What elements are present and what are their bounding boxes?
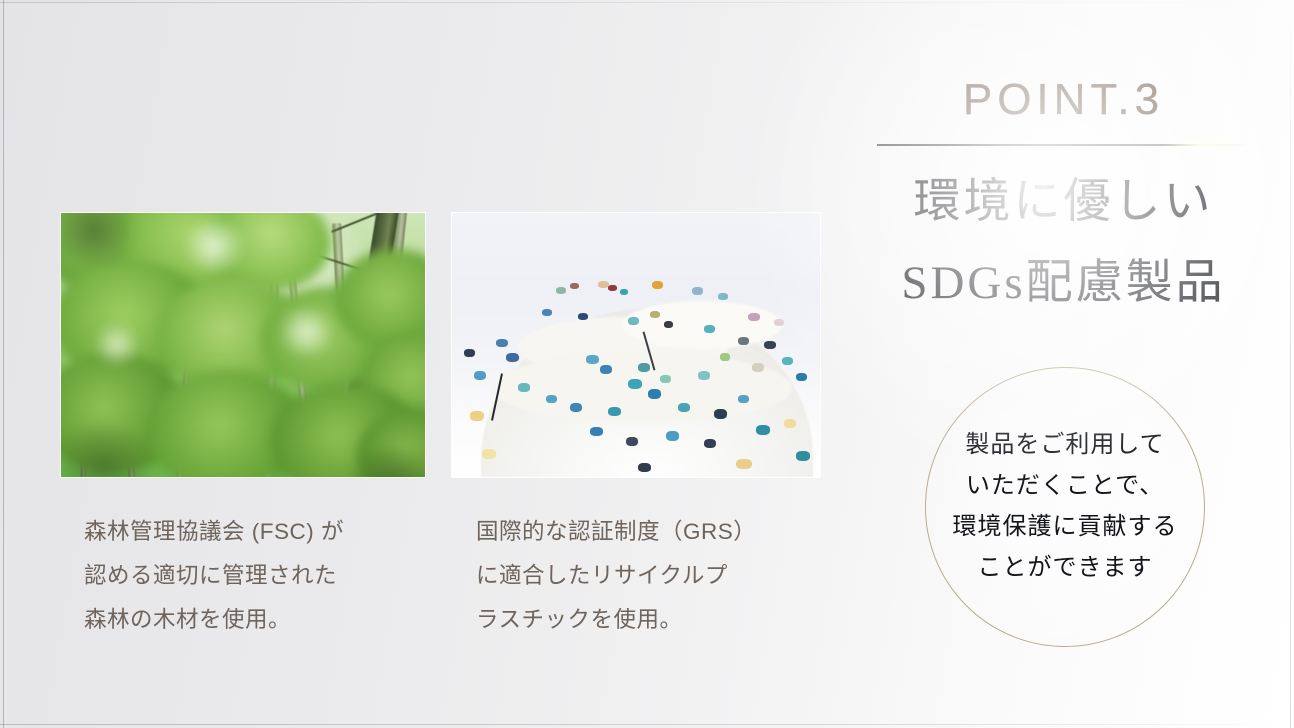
slide-canvas: 森林管理協議会 (FSC) が 認める適切に管理された 森林の木材を使用。 国際… <box>0 0 1294 728</box>
plastic-chip <box>464 349 475 357</box>
point-divider <box>877 144 1250 146</box>
plastic-chip <box>628 379 642 389</box>
plastic-chip <box>556 287 566 294</box>
plastic-chip <box>482 449 496 459</box>
plastic-chip <box>542 309 552 316</box>
plastic-chip <box>570 403 582 412</box>
plastic-chip <box>666 431 679 441</box>
forest-canopy-photo <box>61 213 425 477</box>
plastic-chip <box>796 373 807 381</box>
plastic-chip <box>774 319 784 326</box>
plastic-chip <box>748 313 760 321</box>
plastic-chip <box>518 383 530 392</box>
foliage-highlight <box>91 325 143 365</box>
plastic-chip <box>626 437 638 446</box>
plastic-chip <box>608 285 617 291</box>
caption-plastic: 国際的な認証制度（GRS） に適合したリサイクルプ ラスチックを使用。 <box>476 510 816 642</box>
plastic-chip <box>720 353 730 361</box>
plastic-chip <box>782 357 793 365</box>
plastic-chip <box>578 313 588 320</box>
plastic-chip <box>756 425 770 435</box>
plastic-chip <box>496 339 508 347</box>
plastic-chip <box>648 389 661 399</box>
plastic-chip <box>638 463 651 472</box>
plastic-chip <box>652 281 663 289</box>
plastic-chip <box>650 311 660 318</box>
plastic-chip <box>600 365 612 374</box>
point-label: POINT.3 <box>877 75 1250 125</box>
slide-left-border <box>3 0 4 728</box>
foliage-highlight <box>179 221 249 271</box>
plastic-chip <box>664 321 673 328</box>
plastic-chip <box>698 371 710 380</box>
headline-line-2: SDGs配慮製品 <box>877 243 1250 312</box>
plastic-chip <box>620 289 628 295</box>
plastic-chip <box>590 427 603 436</box>
plastic-chip <box>764 341 776 349</box>
plastic-chip <box>784 419 796 428</box>
headline-line-1: 環境に優しい <box>877 162 1250 231</box>
plastic-chip <box>660 375 671 383</box>
caption-forest: 森林管理協議会 (FSC) が 認める適切に管理された 森林の木材を使用。 <box>84 510 424 642</box>
plastic-chip <box>752 363 764 372</box>
plastic-chip <box>570 283 579 289</box>
plastic-chip <box>546 395 557 403</box>
slide-right-border <box>1290 0 1291 728</box>
plastic-chip <box>474 371 486 380</box>
foliage-highlight <box>275 309 337 355</box>
plastic-chip <box>704 439 716 448</box>
plastic-chip <box>738 337 749 345</box>
plastic-photo-art <box>452 213 820 477</box>
plastic-chip <box>738 395 749 403</box>
recycled-plastic-pellets-photo <box>452 213 820 477</box>
slide-top-border <box>0 2 1290 3</box>
plastic-chip <box>796 451 810 461</box>
plastic-chip <box>628 317 639 325</box>
plastic-chip <box>736 459 752 469</box>
plastic-chip <box>586 355 599 364</box>
plastic-chip <box>470 411 484 421</box>
plastic-chip <box>704 325 715 333</box>
plastic-chip <box>718 293 728 300</box>
plastic-chip <box>692 287 703 295</box>
plastic-chip <box>714 409 727 419</box>
circle-badge: 製品をご利用して いただくことで、 環境保護に貢献する ことができます <box>925 367 1205 647</box>
plastic-chip <box>608 407 621 416</box>
plastic-chip <box>678 403 690 412</box>
plastic-chip <box>638 363 650 372</box>
slide-bottom-border <box>0 724 1280 725</box>
circle-badge-text: 製品をご利用して いただくことで、 環境保護に貢献する ことができます <box>940 425 1190 589</box>
plastic-chip <box>506 353 519 362</box>
forest-photo-art <box>61 213 425 477</box>
